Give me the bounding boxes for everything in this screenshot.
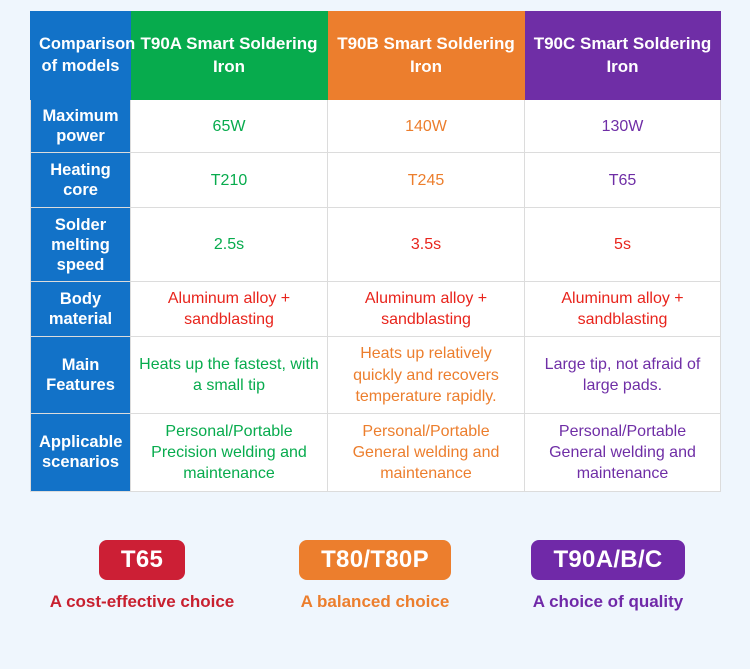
table-row-applicable-scenarios: Applicable scenarios Personal/Portable P…	[31, 413, 721, 491]
badge-group-t90: T90A/B/C A choice of quality	[496, 540, 720, 612]
badge-group-t65: T65 A cost-effective choice	[30, 540, 254, 612]
cell-body-material-t90b: Aluminum alloy + sandblasting	[328, 282, 525, 337]
cell-applicable-scenarios-t90b: Personal/Portable General welding and ma…	[328, 413, 525, 491]
cell-solder-melting-speed-t90c: 5s	[525, 208, 721, 282]
cell-maximum-power-t90c: 130W	[525, 100, 721, 153]
table-row-solder-melting-speed: Solder melting speed 2.5s 3.5s 5s	[31, 208, 721, 282]
badge-pill-t90: T90A/B/C	[531, 540, 684, 580]
row-label-solder-melting-speed: Solder melting speed	[31, 208, 131, 282]
table-corner-label: Comparison of models	[31, 12, 131, 100]
cell-main-features-t90b: Heats up relatively quickly and recovers…	[328, 337, 525, 413]
comparison-table-container: Comparison of models T90A Smart Solderin…	[30, 11, 720, 492]
table-row-body-material: Body material Aluminum alloy + sandblast…	[31, 282, 721, 337]
cell-body-material-t90c: Aluminum alloy + sandblasting	[525, 282, 721, 337]
table-row-maximum-power: Maximum power 65W 140W 130W	[31, 100, 721, 153]
cell-heating-core-t90c: T65	[525, 153, 721, 208]
badge-caption-t80: A balanced choice	[301, 592, 450, 612]
badge-pill-t65: T65	[99, 540, 185, 580]
model-comparison-table: Comparison of models T90A Smart Solderin…	[30, 11, 721, 492]
cell-heating-core-t90a: T210	[131, 153, 328, 208]
cell-body-material-t90a: Aluminum alloy + sandblasting	[131, 282, 328, 337]
cell-solder-melting-speed-t90b: 3.5s	[328, 208, 525, 282]
row-label-body-material: Body material	[31, 282, 131, 337]
row-label-main-features: Main Features	[31, 337, 131, 413]
cell-main-features-t90a: Heats up the fastest, with a small tip	[131, 337, 328, 413]
table-row-heating-core: Heating core T210 T245 T65	[31, 153, 721, 208]
cell-solder-melting-speed-t90a: 2.5s	[131, 208, 328, 282]
row-label-maximum-power: Maximum power	[31, 100, 131, 153]
comparison-page: Comparison of models T90A Smart Solderin…	[0, 0, 750, 669]
cell-heating-core-t90b: T245	[328, 153, 525, 208]
table-header-row: Comparison of models T90A Smart Solderin…	[31, 12, 721, 100]
column-header-t90b: T90B Smart Soldering Iron	[328, 12, 525, 100]
row-label-heating-core: Heating core	[31, 153, 131, 208]
cell-maximum-power-t90b: 140W	[328, 100, 525, 153]
badge-caption-t65: A cost-effective choice	[50, 592, 235, 612]
column-header-t90c: T90C Smart Soldering Iron	[525, 12, 721, 100]
cell-applicable-scenarios-t90c: Personal/Portable General welding and ma…	[525, 413, 721, 491]
badge-group-t80: T80/T80P A balanced choice	[263, 540, 487, 612]
badge-pill-t80: T80/T80P	[299, 540, 451, 580]
column-header-t90a: T90A Smart Soldering Iron	[131, 12, 328, 100]
table-row-main-features: Main Features Heats up the fastest, with…	[31, 337, 721, 413]
cell-maximum-power-t90a: 65W	[131, 100, 328, 153]
badge-caption-t90: A choice of quality	[533, 592, 684, 612]
row-label-applicable-scenarios: Applicable scenarios	[31, 413, 131, 491]
cell-main-features-t90c: Large tip, not afraid of large pads.	[525, 337, 721, 413]
recommendation-badges: T65 A cost-effective choice T80/T80P A b…	[30, 540, 720, 612]
cell-applicable-scenarios-t90a: Personal/Portable Precision welding and …	[131, 413, 328, 491]
